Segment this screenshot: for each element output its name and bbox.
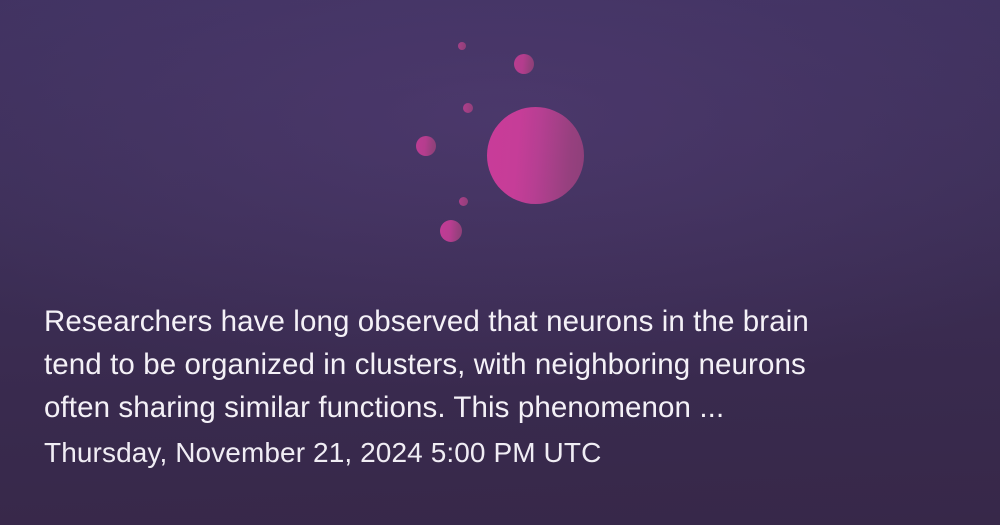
text-block: Researchers have long observed that neur… <box>44 300 964 473</box>
article-excerpt: Researchers have long observed that neur… <box>44 300 964 429</box>
publish-timestamp: Thursday, November 21, 2024 5:00 PM UTC <box>44 429 964 473</box>
orb-medium-left-icon <box>416 136 436 156</box>
orb-small-middle-icon <box>463 103 473 113</box>
orb-large-icon <box>487 107 584 204</box>
circle-cluster-illustration <box>0 0 1000 280</box>
orb-small-bottom-icon <box>459 197 468 206</box>
orb-medium-top-icon <box>514 54 534 74</box>
social-preview-card: Researchers have long observed that neur… <box>0 0 1000 525</box>
orb-small-top-icon <box>458 42 466 50</box>
orb-medium-bottom-icon <box>440 220 462 242</box>
